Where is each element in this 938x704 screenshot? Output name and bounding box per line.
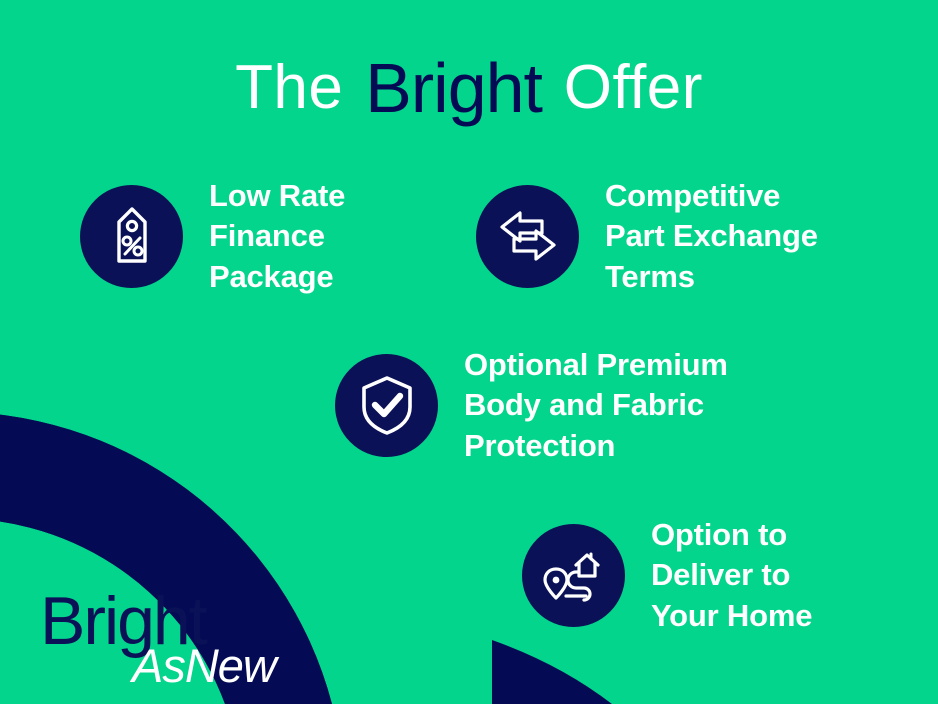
feature-part-exchange: Competitive Part Exchange Terms: [476, 176, 818, 297]
headline-suffix: Offer: [564, 53, 703, 122]
feature-label: Low Rate Finance Package: [209, 176, 345, 297]
feature-home-delivery: Option to Deliver to Your Home: [522, 515, 812, 636]
page-title: The Bright Offer: [0, 44, 938, 124]
map-pin-route-house-icon: [542, 546, 606, 604]
exchange-arrows-icon-badge: [476, 185, 579, 288]
logo-bright-as-new: Bright AsNew: [40, 582, 300, 687]
map-pin-route-house-icon-badge: [522, 524, 625, 627]
feature-low-rate-finance: Low Rate Finance Package: [80, 176, 345, 297]
logo-mark: Bright AsNew: [40, 582, 300, 687]
feature-label: Competitive Part Exchange Terms: [605, 176, 818, 297]
feature-body-fabric-protection: Optional Premium Body and Fabric Protect…: [335, 345, 728, 466]
headline-brand: Bright: [361, 49, 546, 127]
price-tag-percent-icon-badge: [80, 185, 183, 288]
shield-check-icon-badge: [335, 354, 438, 457]
offer-poster: The Bright Offer Low Rate Finance Packag…: [0, 0, 938, 704]
navy-bottom-wedge: [492, 640, 612, 704]
feature-label: Optional Premium Body and Fabric Protect…: [464, 345, 728, 466]
feature-label: Option to Deliver to Your Home: [651, 515, 812, 636]
shield-check-icon: [359, 374, 415, 436]
headline-prefix: The: [235, 53, 343, 122]
price-tag-percent-icon: [104, 205, 160, 267]
exchange-arrows-icon: [498, 207, 558, 265]
logo-secondary-text: AsNew: [129, 639, 280, 687]
